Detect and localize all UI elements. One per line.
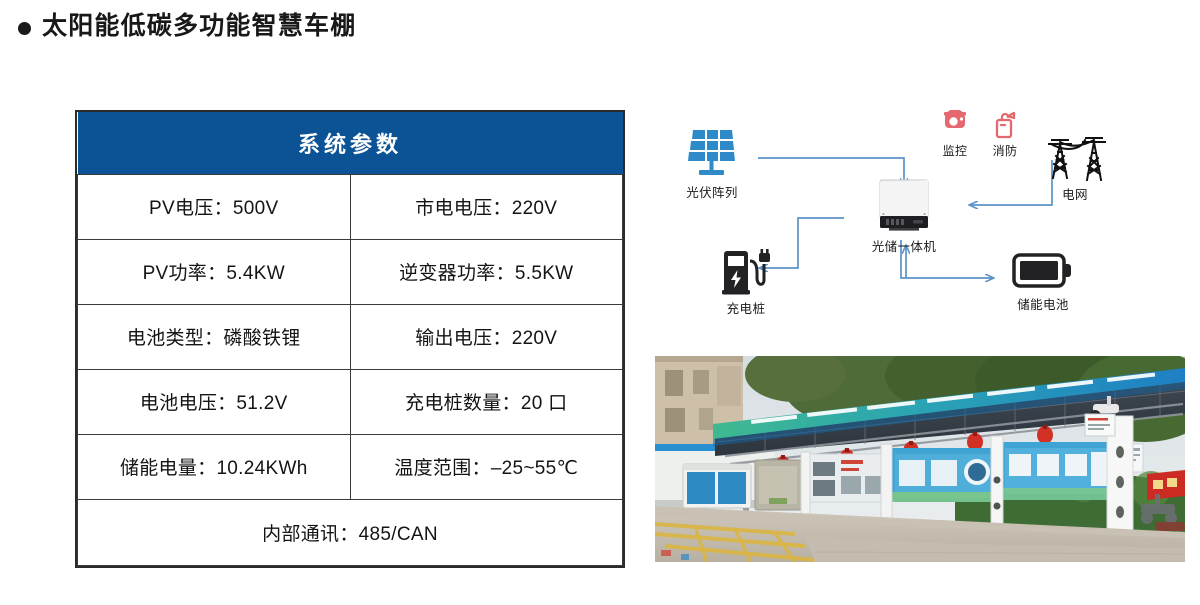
ev-charging-pile-icon (703, 248, 789, 296)
table-row: PV电压：500V 市电电压：220V (78, 174, 623, 239)
table-row: 电池电压：51.2V 充电桩数量：20 口 (78, 369, 623, 434)
diagram-node-inverter: 光储一体机 (844, 178, 964, 255)
security-camera-icon (931, 110, 979, 140)
inverter-unit-icon (844, 178, 964, 234)
solar-carport-photo (655, 356, 1185, 562)
table-row: 储能电量：10.24KWh 温度范围：–25~55℃ (78, 434, 623, 499)
diagram-node-charger: 充电桩 (703, 248, 789, 317)
cell-charger-count: 充电桩数量：20 口 (350, 369, 623, 434)
cell-inverter-power: 逆变器功率：5.5KW (350, 239, 623, 304)
cell-pv-voltage: PV电压：500V (78, 174, 351, 239)
photo-content (655, 356, 1185, 562)
table-header-cell: 系统参数 (78, 112, 623, 174)
cell-battery-voltage: 电池电压：51.2V (78, 369, 351, 434)
slide-page: 太阳能低碳多功能智慧车棚 系统参数 PV电压：500V 市电电压：220V PV… (0, 0, 1200, 605)
system-flow-diagram: 光伏阵列 监控 (648, 100, 1193, 350)
node-label-battery: 储能电池 (988, 294, 1098, 313)
node-label-monitor: 监控 (931, 142, 979, 159)
diagram-node-pv-array: 光伏阵列 (662, 128, 762, 201)
bullet-dot-icon (18, 22, 31, 35)
node-label-grid: 电网 (1020, 184, 1130, 203)
solar-panel-icon (662, 128, 762, 180)
node-label-charger: 充电桩 (703, 298, 789, 317)
cell-temp-range: 温度范围：–25~55℃ (350, 434, 623, 499)
table-row: PV功率：5.4KW 逆变器功率：5.5KW (78, 239, 623, 304)
battery-icon (988, 250, 1098, 292)
system-parameters-table: 系统参数 PV电压：500V 市电电压：220V PV功率：5.4KW 逆变器功… (75, 110, 625, 568)
cell-mains-voltage: 市电电压：220V (350, 174, 623, 239)
page-title: 太阳能低碳多功能智慧车棚 (18, 14, 356, 39)
node-label-inverter: 光储一体机 (844, 236, 964, 255)
table-row: 内部通讯：485/CAN (78, 499, 623, 565)
cell-internal-comms: 内部通讯：485/CAN (78, 499, 623, 565)
power-tower-icon (1020, 134, 1130, 182)
cell-battery-type: 电池类型：磷酸铁锂 (78, 304, 351, 369)
cell-pv-power: PV功率：5.4KW (78, 239, 351, 304)
diagram-node-monitor: 监控 (931, 110, 979, 159)
cell-output-voltage: 输出电压：220V (350, 304, 623, 369)
node-label-pv-array: 光伏阵列 (662, 182, 762, 201)
cell-storage-capacity: 储能电量：10.24KWh (78, 434, 351, 499)
page-title-text: 太阳能低碳多功能智慧车棚 (42, 14, 356, 39)
diagram-node-grid: 电网 (1020, 134, 1130, 203)
diagram-node-battery: 储能电池 (988, 250, 1098, 313)
table-row: 电池类型：磷酸铁锂 输出电压：220V (78, 304, 623, 369)
